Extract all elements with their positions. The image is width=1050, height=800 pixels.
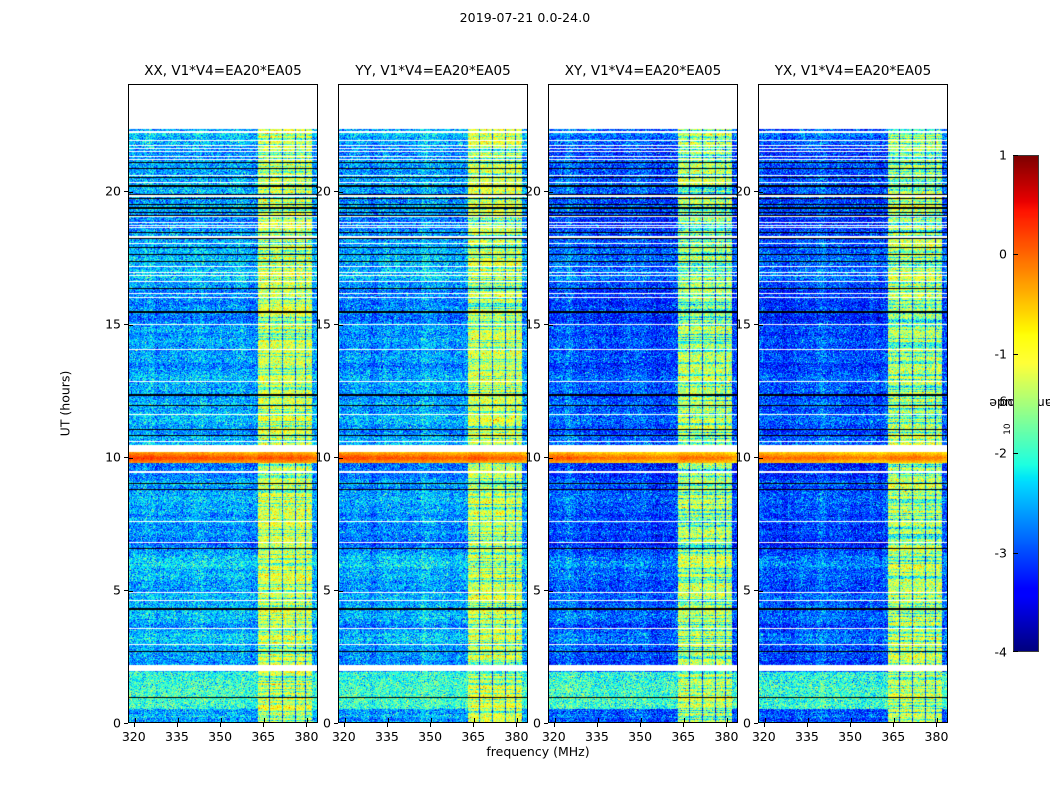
- y-axis-label: UT (hours): [32, 84, 98, 723]
- y-tick-mark: [754, 457, 758, 458]
- y-tick-mark: [334, 590, 338, 591]
- colorbar-gradient: [1013, 155, 1039, 652]
- panel-title-xy: XY, V1*V4=EA20*EA05: [565, 63, 721, 84]
- colorbar: -4-3-2-101: [1013, 155, 1039, 652]
- x-tick-label: 365: [251, 729, 275, 744]
- colorbar-tick-mark: [1013, 553, 1018, 554]
- colorbar-tick-label: 1: [999, 148, 1007, 163]
- colorbar-tick-label: -2: [995, 446, 1007, 461]
- colorbar-tick-label: -4: [995, 645, 1007, 660]
- panel-yy: YY, V1*V4=EA20*EA05320335350365380051015…: [338, 84, 528, 723]
- x-tick-label: 335: [165, 729, 189, 744]
- x-tick-mark: [764, 723, 765, 727]
- y-tick-mark-inner: [339, 325, 343, 326]
- x-tick-mark-inner: [598, 718, 599, 722]
- y-tick-mark: [334, 191, 338, 192]
- x-tick-mark-inner: [264, 718, 265, 722]
- y-tick-label: 20: [525, 183, 541, 198]
- x-tick-mark-inner: [641, 718, 642, 722]
- y-tick-mark: [124, 723, 128, 724]
- y-tick-mark: [754, 590, 758, 591]
- x-tick-mark: [893, 723, 894, 727]
- x-tick-mark-inner: [221, 718, 222, 722]
- y-tick-mark: [544, 723, 548, 724]
- x-tick-mark-inner: [517, 718, 518, 722]
- dynamic-spectrum-yy: [339, 85, 528, 723]
- y-tick-mark-inner: [339, 192, 343, 193]
- y-tick-mark: [544, 590, 548, 591]
- y-tick-label: 15: [105, 316, 121, 331]
- x-tick-label: 380: [715, 729, 739, 744]
- x-tick-label: 320: [542, 729, 566, 744]
- y-tick-label: 0: [743, 716, 751, 731]
- panel-xx: XX, V1*V4=EA20*EA05320335350365380051015…: [128, 84, 318, 723]
- panel-title-xx: XX, V1*V4=EA20*EA05: [144, 63, 301, 84]
- y-tick-mark: [754, 191, 758, 192]
- x-tick-mark-inner: [894, 718, 895, 722]
- x-tick-mark: [220, 723, 221, 727]
- y-tick-label: 5: [743, 582, 751, 597]
- y-tick-mark: [544, 457, 548, 458]
- y-tick-mark-inner: [759, 192, 763, 193]
- y-tick-label: 10: [105, 449, 121, 464]
- x-tick-mark-inner: [431, 718, 432, 722]
- y-tick-label: 20: [315, 183, 331, 198]
- x-tick-label: 365: [461, 729, 485, 744]
- colorbar-tick-mark: [1013, 254, 1018, 255]
- x-tick-label: 335: [795, 729, 819, 744]
- x-tick-mark-inner: [345, 718, 346, 722]
- x-tick-mark: [726, 723, 727, 727]
- y-tick-mark: [334, 723, 338, 724]
- x-axis-label: frequency (MHz): [128, 744, 948, 759]
- x-tick-mark: [177, 723, 178, 727]
- waterfall-axes-xy: [548, 84, 738, 723]
- y-tick-label: 10: [315, 449, 331, 464]
- y-tick-mark: [544, 191, 548, 192]
- x-tick-mark-inner: [388, 718, 389, 722]
- panel-yx: YX, V1*V4=EA20*EA05320335350365380051015…: [758, 84, 948, 723]
- dynamic-spectrum-xy: [549, 85, 738, 723]
- colorbar-tick-label: -1: [995, 346, 1007, 361]
- x-tick-mark: [807, 723, 808, 727]
- y-tick-mark: [754, 324, 758, 325]
- x-tick-mark: [387, 723, 388, 727]
- figure-canvas: 2019-07-21 0.0-24.0 UT (hours) frequency…: [0, 0, 1050, 800]
- x-tick-mark: [430, 723, 431, 727]
- panel-title-yy: YY, V1*V4=EA20*EA05: [355, 63, 510, 84]
- x-tick-label: 335: [375, 729, 399, 744]
- x-tick-mark-inner: [937, 718, 938, 722]
- x-tick-mark: [597, 723, 598, 727]
- y-tick-label: 20: [735, 183, 751, 198]
- x-tick-mark-inner: [684, 718, 685, 722]
- colorbar-tick-label: 0: [999, 247, 1007, 262]
- colorbar-tick-mark: [1013, 651, 1018, 652]
- colorbar-tick-mark: [1013, 453, 1018, 454]
- x-tick-mark-inner: [727, 718, 728, 722]
- x-tick-label: 365: [881, 729, 905, 744]
- x-tick-mark: [263, 723, 264, 727]
- y-tick-mark: [124, 191, 128, 192]
- x-tick-mark: [516, 723, 517, 727]
- y-tick-mark: [124, 590, 128, 591]
- colorbar-tick-mark: [1013, 155, 1018, 156]
- waterfall-axes-yx: [758, 84, 948, 723]
- y-axis-label-text: UT (hours): [57, 371, 72, 437]
- y-tick-mark-inner: [549, 458, 553, 459]
- y-tick-label: 15: [315, 316, 331, 331]
- y-tick-mark-inner: [549, 591, 553, 592]
- y-tick-mark-inner: [129, 325, 133, 326]
- panel-xy: XY, V1*V4=EA20*EA05320335350365380051015…: [548, 84, 738, 723]
- x-tick-label: 350: [838, 729, 862, 744]
- colorbar-tick-label: -3: [995, 545, 1007, 560]
- x-tick-mark: [683, 723, 684, 727]
- x-tick-mark: [473, 723, 474, 727]
- y-tick-label: 5: [323, 582, 331, 597]
- y-tick-mark-inner: [129, 458, 133, 459]
- colorbar-tick-mark: [1013, 354, 1018, 355]
- y-tick-mark-inner: [129, 591, 133, 592]
- x-tick-mark: [306, 723, 307, 727]
- y-tick-label: 10: [525, 449, 541, 464]
- x-tick-label: 365: [671, 729, 695, 744]
- y-tick-mark: [754, 723, 758, 724]
- y-tick-mark: [124, 457, 128, 458]
- x-tick-mark-inner: [851, 718, 852, 722]
- x-tick-label: 380: [295, 729, 319, 744]
- y-tick-mark-inner: [339, 591, 343, 592]
- dynamic-spectrum-xx: [129, 85, 318, 723]
- y-tick-label: 0: [533, 716, 541, 731]
- x-tick-mark: [134, 723, 135, 727]
- waterfall-axes-xx: [128, 84, 318, 723]
- x-tick-label: 320: [332, 729, 356, 744]
- x-tick-mark: [850, 723, 851, 727]
- y-tick-label: 10: [735, 449, 751, 464]
- x-tick-mark-inner: [765, 718, 766, 722]
- y-tick-label: 5: [113, 582, 121, 597]
- x-tick-label: 320: [752, 729, 776, 744]
- panel-title-yx: YX, V1*V4=EA20*EA05: [775, 63, 931, 84]
- y-tick-label: 15: [735, 316, 751, 331]
- x-tick-label: 380: [505, 729, 529, 744]
- x-tick-label: 350: [418, 729, 442, 744]
- x-tick-label: 380: [925, 729, 949, 744]
- y-tick-mark-inner: [759, 325, 763, 326]
- y-tick-mark-inner: [759, 458, 763, 459]
- y-tick-label: 0: [323, 716, 331, 731]
- x-tick-mark: [554, 723, 555, 727]
- y-tick-mark: [334, 457, 338, 458]
- dynamic-spectrum-yx: [759, 85, 948, 723]
- y-tick-mark-inner: [129, 192, 133, 193]
- x-tick-label: 320: [122, 729, 146, 744]
- y-tick-label: 20: [105, 183, 121, 198]
- y-tick-label: 15: [525, 316, 541, 331]
- x-tick-mark-inner: [135, 718, 136, 722]
- x-tick-mark-inner: [474, 718, 475, 722]
- x-tick-label: 350: [628, 729, 652, 744]
- y-tick-mark-inner: [759, 591, 763, 592]
- x-tick-mark: [640, 723, 641, 727]
- y-tick-mark-inner: [549, 192, 553, 193]
- y-tick-mark: [544, 324, 548, 325]
- x-tick-mark-inner: [555, 718, 556, 722]
- waterfall-axes-yy: [338, 84, 528, 723]
- y-tick-mark-inner: [549, 325, 553, 326]
- y-tick-label: 5: [533, 582, 541, 597]
- x-tick-mark-inner: [178, 718, 179, 722]
- x-tick-label: 335: [585, 729, 609, 744]
- y-tick-label: 0: [113, 716, 121, 731]
- y-tick-mark: [124, 324, 128, 325]
- figure-suptitle: 2019-07-21 0.0-24.0: [0, 10, 1050, 25]
- y-tick-mark: [334, 324, 338, 325]
- x-tick-mark-inner: [808, 718, 809, 722]
- x-tick-mark: [344, 723, 345, 727]
- x-tick-label: 350: [208, 729, 232, 744]
- x-tick-mark: [936, 723, 937, 727]
- y-tick-mark-inner: [339, 458, 343, 459]
- x-tick-mark-inner: [307, 718, 308, 722]
